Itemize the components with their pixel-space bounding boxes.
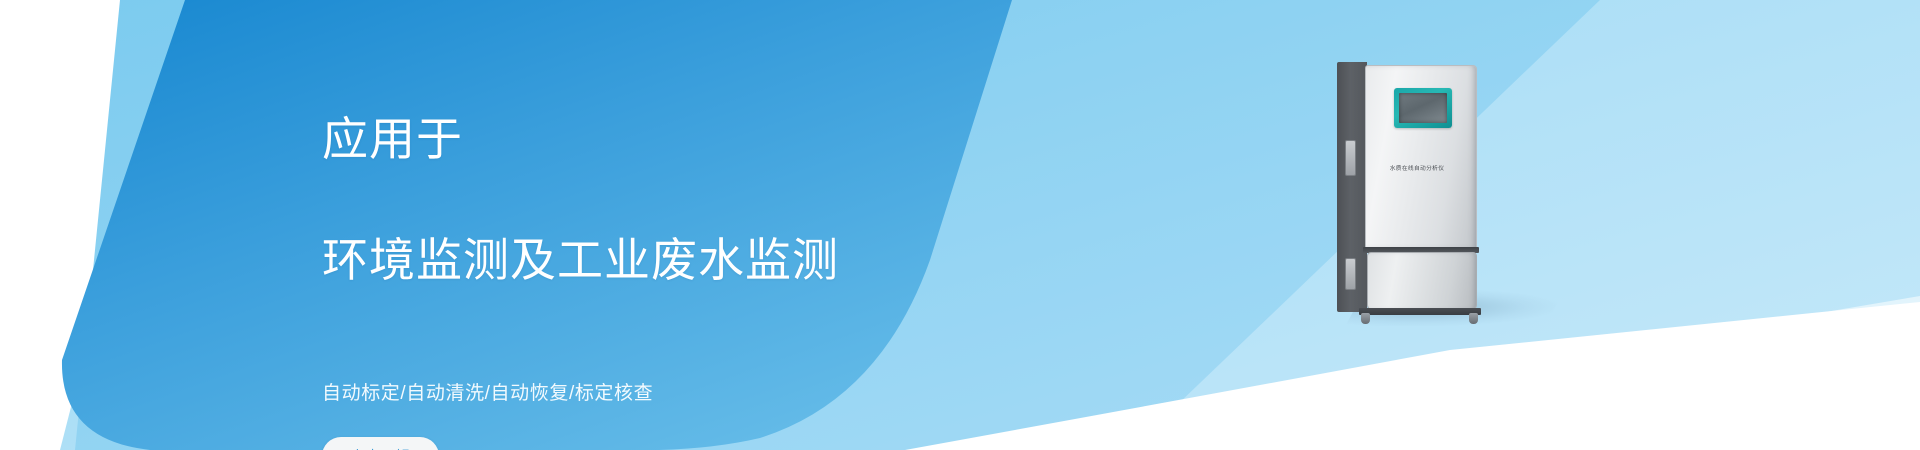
display-screen [1399,93,1447,123]
product-image-water-quality-analyzer: 水质在线自动分析仪 [1337,62,1484,320]
headline-line-2: 环境监测及工业废水监测 [322,230,1082,291]
cabinet-side-panel [1337,62,1367,312]
cabinet-lower-door [1367,252,1477,310]
product-name-label: 水质在线自动分析仪 [1365,164,1469,172]
caster-wheel-right-icon [1469,313,1478,324]
headline-line-1: 应用于 [322,109,1082,170]
hero-banner: 应用于 环境监测及工业废水监测 自动标定/自动清洗/自动恢复/标定核查 点击了解… [0,0,1920,450]
cabinet-lower-handle-icon [1345,258,1356,290]
learn-more-button[interactable]: 点击了解 [322,437,439,450]
cabinet-upper-door: 水质在线自动分析仪 [1365,65,1477,249]
page-title: 应用于 环境监测及工业废水监测 [322,48,1082,352]
caster-wheel-left-icon [1361,313,1370,324]
cabinet-base [1359,308,1481,315]
display-screen-bezel [1394,88,1452,128]
hero-copy: 应用于 环境监测及工业废水监测 自动标定/自动清洗/自动恢复/标定核查 点击了解 [322,48,1082,450]
cabinet-upper-handle-icon [1345,140,1356,176]
subheadline: 自动标定/自动清洗/自动恢复/标定核查 [322,378,1082,405]
